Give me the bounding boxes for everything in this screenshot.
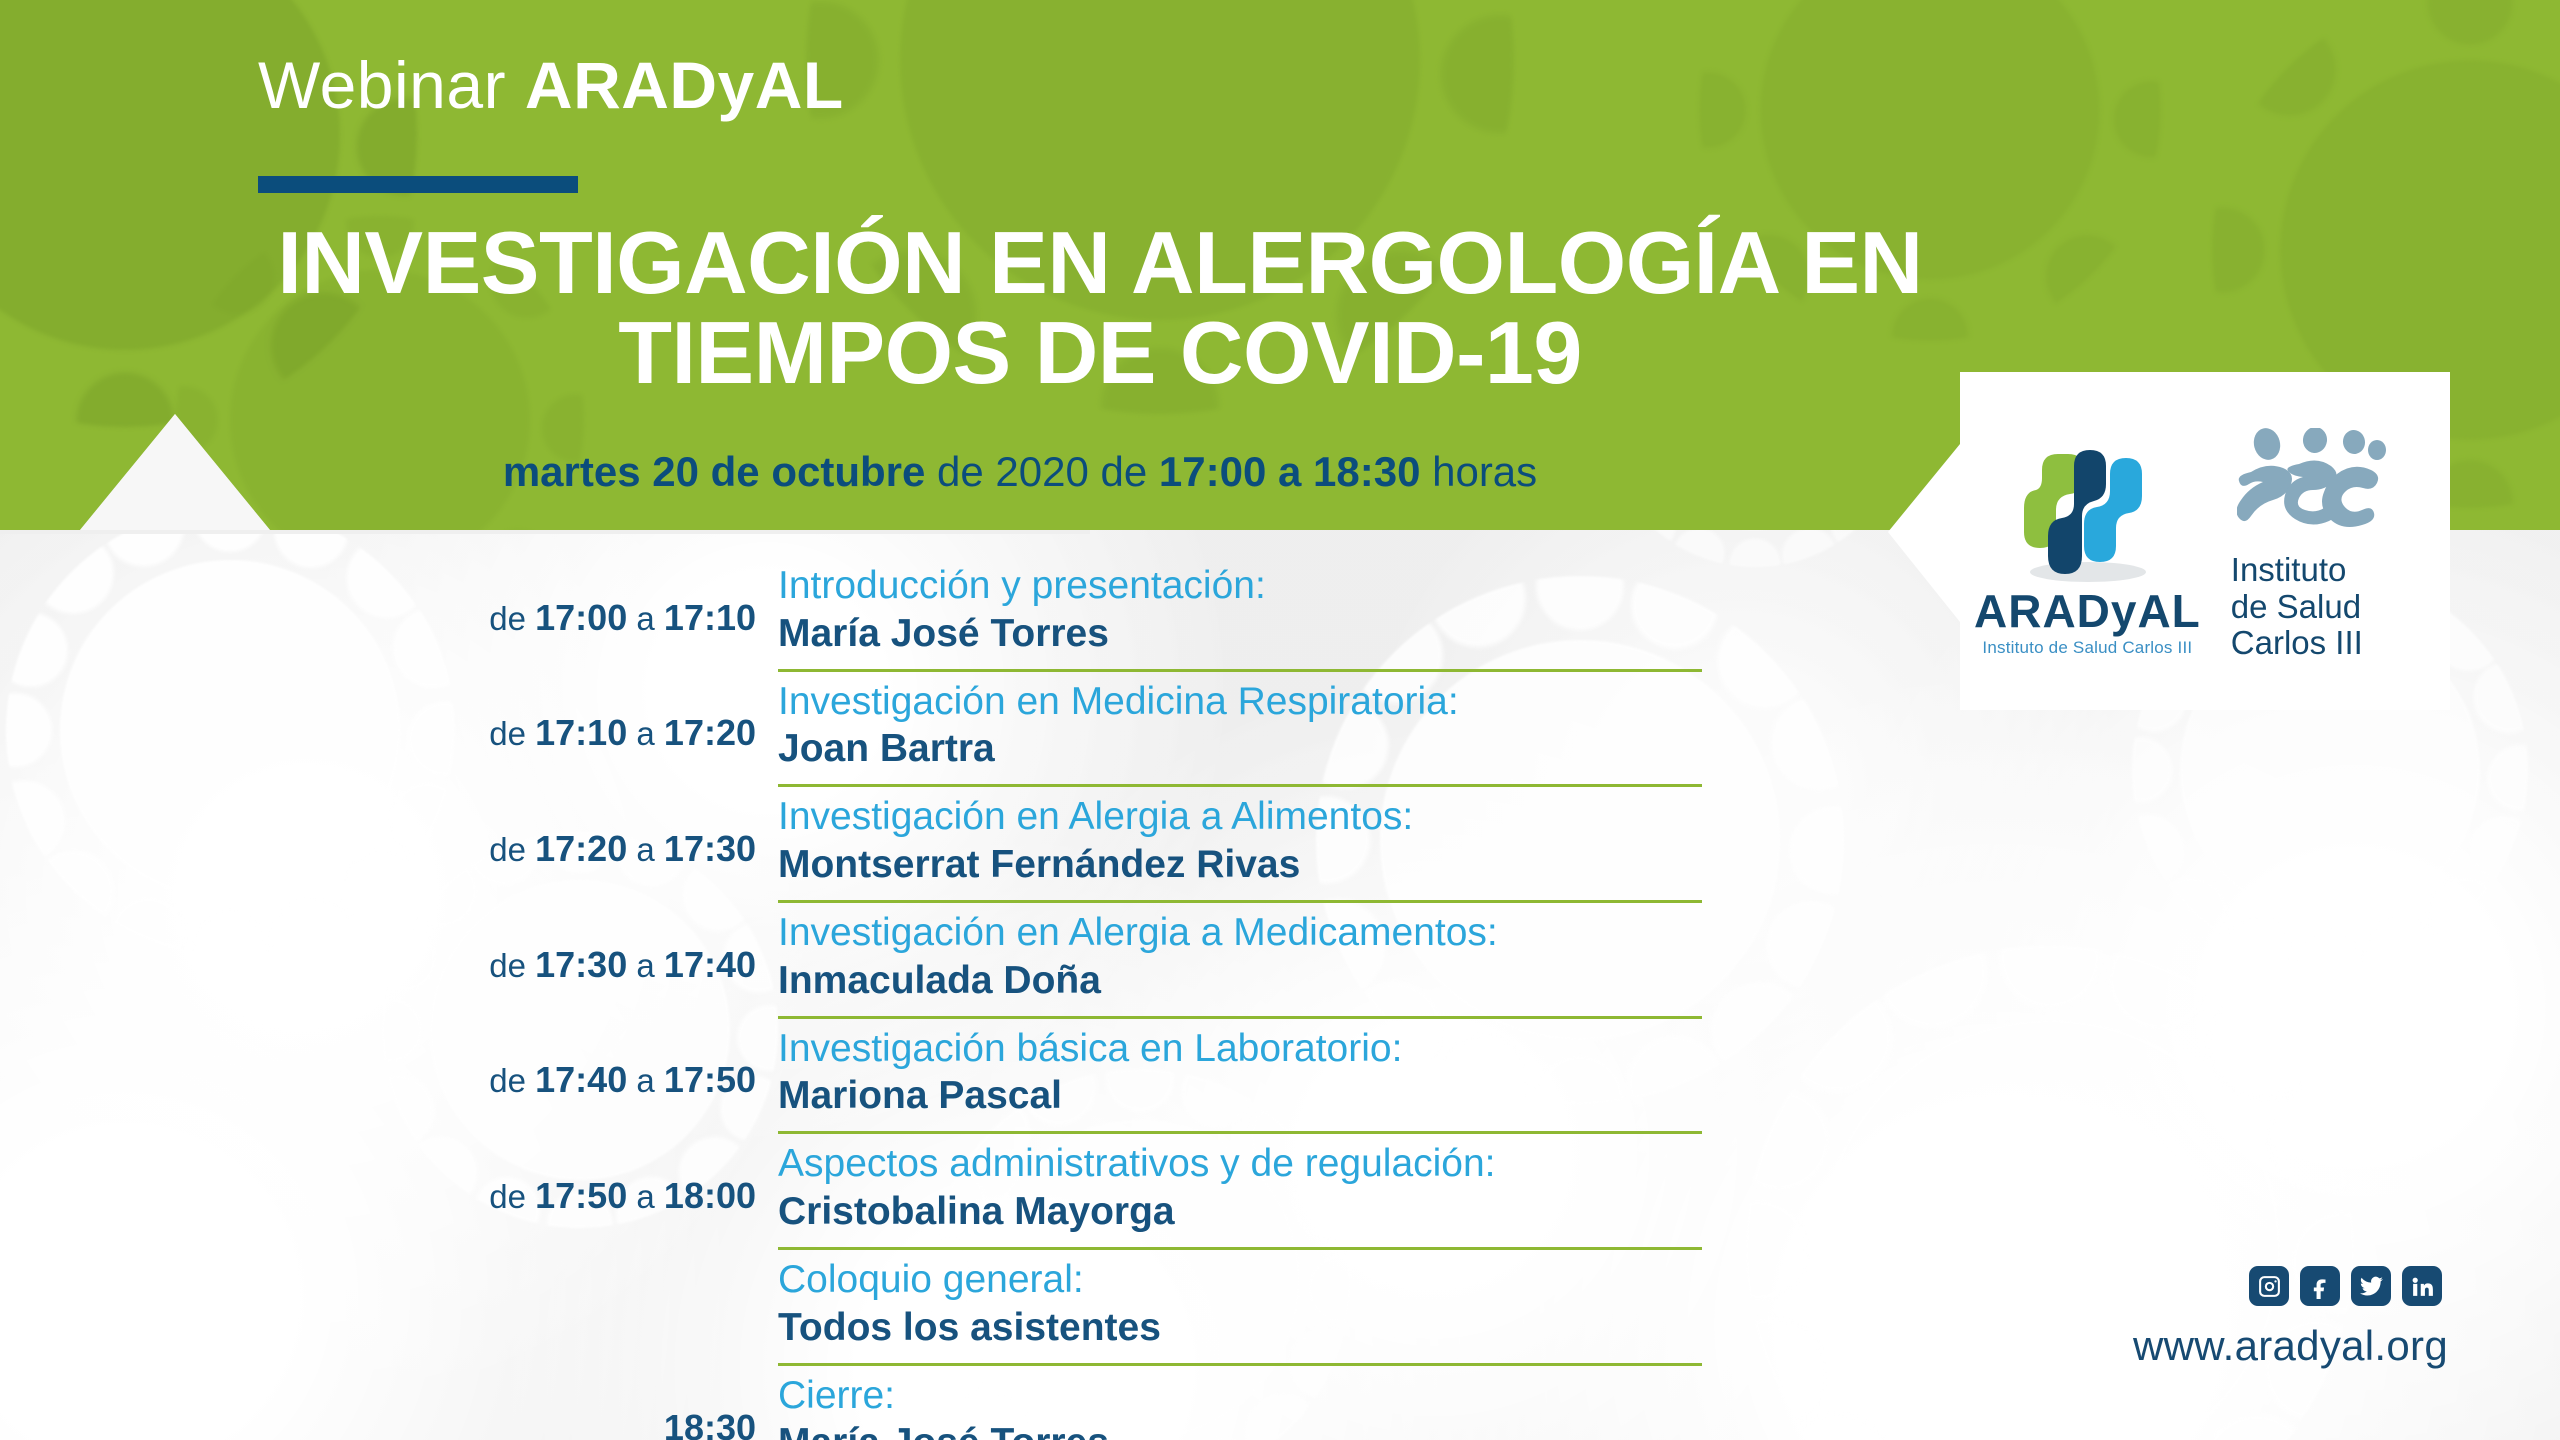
schedule-time: 18:30 <box>0 1407 778 1440</box>
schedule-row: de 17:50 a 18:00Aspectos administrativos… <box>0 1131 1760 1247</box>
schedule-time <box>0 1333 778 1363</box>
aradyal-wordmark: ARADyAL <box>1974 588 2201 634</box>
schedule-row: 18:30Cierre:María José Torres <box>0 1363 1760 1440</box>
schedule-list: de 17:00 a 17:10Introducción y presentac… <box>0 556 1760 1440</box>
schedule-topic: Coloquio general: <box>778 1258 1702 1302</box>
title-line-2: TIEMPOS DE COVID-19 <box>0 308 2200 398</box>
facebook-icon[interactable] <box>2300 1266 2340 1306</box>
schedule-speaker: María José Torres <box>778 611 1702 657</box>
schedule-time: de 17:20 a 17:30 <box>0 828 778 900</box>
linkedin-icon[interactable] <box>2402 1266 2442 1306</box>
website-url[interactable]: www.aradyal.org <box>2133 1322 2448 1370</box>
schedule-row: de 17:20 a 17:30Investigación en Alergia… <box>0 784 1760 900</box>
title-underline-rule <box>258 176 578 193</box>
schedule-row: Coloquio general:Todos los asistentes <box>0 1247 1760 1363</box>
webinar-poster: Webinar ARADyAL INVESTIGACIÓN EN ALERGOL… <box>0 0 2560 1440</box>
schedule-content: Investigación en Medicina Respiratoria:J… <box>778 669 1702 785</box>
schedule-row: de 17:30 a 17:40Investigación en Alergia… <box>0 900 1760 1016</box>
schedule-speaker: Mariona Pascal <box>778 1073 1702 1119</box>
schedule-content: Investigación en Alergia a Alimentos:Mon… <box>778 784 1702 900</box>
schedule-content: Investigación básica en Laboratorio:Mari… <box>778 1016 1702 1132</box>
schedule-topic: Cierre: <box>778 1374 1702 1418</box>
schedule-content: Introducción y presentación:María José T… <box>778 556 1702 669</box>
aradyal-molecule-icon <box>2012 432 2162 592</box>
schedule-content: Cierre:María José Torres <box>778 1363 1702 1440</box>
eyebrow-bold-text: ARADyAL <box>525 48 844 122</box>
event-time-range: 17:00 a 18:30 <box>1159 448 1421 495</box>
schedule-row: de 17:10 a 17:20Investigación en Medicin… <box>0 669 1760 785</box>
isciii-logo: Instituto de Salud Carlos III <box>2231 428 2428 663</box>
schedule-speaker: Todos los asistentes <box>778 1305 1702 1351</box>
schedule-content: Coloquio general:Todos los asistentes <box>778 1247 1702 1363</box>
schedule-time: de 17:40 a 17:50 <box>0 1059 778 1131</box>
schedule-topic: Investigación en Alergia a Alimentos: <box>778 795 1702 839</box>
schedule-topic: Introducción y presentación: <box>778 564 1702 608</box>
eyebrow-light-text: Webinar <box>258 48 525 122</box>
eyebrow-title: Webinar ARADyAL <box>258 52 844 118</box>
event-time-suffix: horas <box>1420 448 1537 495</box>
schedule-topic: Investigación en Alergia a Medicamentos: <box>778 911 1702 955</box>
aradyal-subtitle: Instituto de Salud Carlos III <box>1982 638 2192 658</box>
isciii-line-1: Instituto <box>2231 552 2363 589</box>
schedule-speaker: Joan Bartra <box>778 726 1702 772</box>
schedule-speaker: Montserrat Fernández Rivas <box>778 842 1702 888</box>
schedule-time: de 17:00 a 17:10 <box>0 597 778 669</box>
schedule-row: de 17:40 a 17:50Investigación básica en … <box>0 1016 1760 1132</box>
isciii-line-3: Carlos III <box>2231 625 2363 662</box>
virus-illustration <box>1820 1020 2280 1440</box>
schedule-time: de 17:10 a 17:20 <box>0 712 778 784</box>
social-links[interactable] <box>2249 1266 2442 1306</box>
isciii-line-2: de Salud <box>2231 589 2363 626</box>
event-datetime: martes 20 de octubre de 2020 de 17:00 a … <box>0 448 2040 496</box>
schedule-speaker: Cristobalina Mayorga <box>778 1189 1702 1235</box>
isciii-figures-icon <box>2237 428 2387 548</box>
schedule-row: de 17:00 a 17:10Introducción y presentac… <box>0 556 1760 669</box>
instagram-icon[interactable] <box>2249 1266 2289 1306</box>
schedule-topic: Investigación básica en Laboratorio: <box>778 1027 1702 1071</box>
event-year: de 2020 de <box>925 448 1159 495</box>
isciii-wordmark: Instituto de Salud Carlos III <box>2231 552 2363 663</box>
schedule-topic: Aspectos administrativos y de regulación… <box>778 1142 1702 1186</box>
aradyal-logo: ARADyAL Instituto de Salud Carlos III <box>1974 432 2201 658</box>
schedule-content: Investigación en Alergia a Medicamentos:… <box>778 900 1702 1016</box>
logo-card: ARADyAL Instituto de Salud Carlos III In… <box>1888 372 2450 710</box>
schedule-time: de 17:50 a 18:00 <box>0 1175 778 1247</box>
schedule-topic: Investigación en Medicina Respiratoria: <box>778 680 1702 724</box>
schedule-speaker: María José Torres <box>778 1420 1702 1440</box>
schedule-time: de 17:30 a 17:40 <box>0 944 778 1016</box>
event-date: martes 20 de octubre <box>503 448 926 495</box>
schedule-content: Aspectos administrativos y de regulación… <box>778 1131 1702 1247</box>
twitter-icon[interactable] <box>2351 1266 2391 1306</box>
title-line-1: INVESTIGACIÓN EN ALERGOLOGÍA EN <box>277 213 1922 312</box>
schedule-speaker: Inmaculada Doña <box>778 958 1702 1004</box>
page-title: INVESTIGACIÓN EN ALERGOLOGÍA EN TIEMPOS … <box>0 218 2200 398</box>
